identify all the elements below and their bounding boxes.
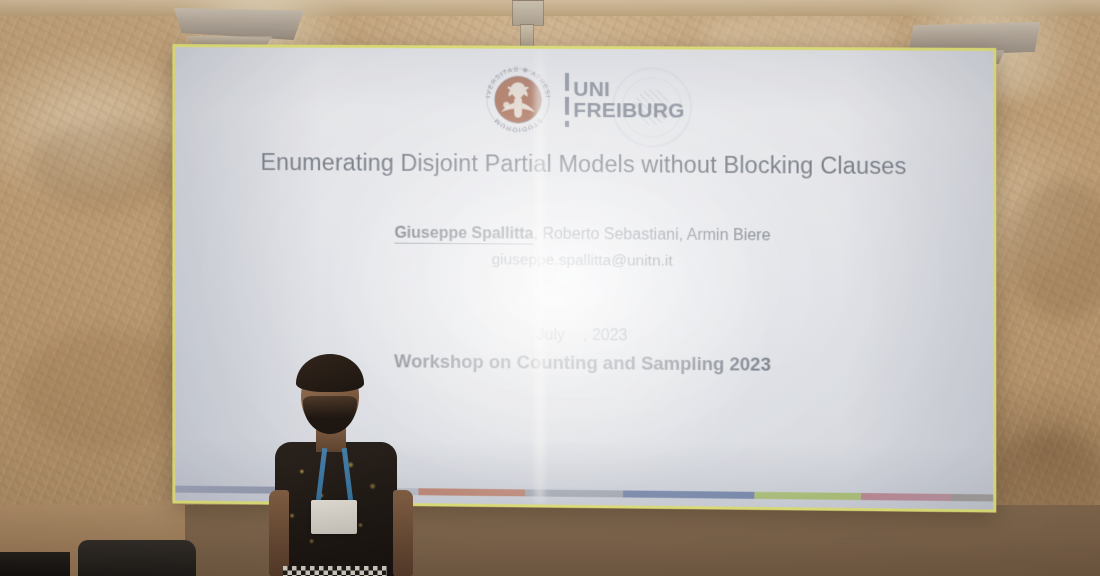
unitn-logo-icon: UNIVERSITAS ✻ ATHESINA STUDIORUM: [480, 60, 558, 138]
stripe-seg: [525, 489, 623, 497]
presenter-standing: [253, 352, 431, 576]
author-email: giuseppe.spallitta@unitn.it: [175, 249, 993, 273]
wall-outlet: [512, 0, 544, 26]
freiburg-bar-icon: [565, 73, 569, 127]
presenter-badge: [311, 500, 357, 534]
presenter-hair: [296, 354, 364, 392]
presenter-trousers: [283, 566, 387, 576]
chair-foreground: [78, 540, 196, 576]
stripe-seg: [419, 488, 525, 496]
date-month: July: [537, 327, 565, 344]
date-year: , 2023: [583, 327, 628, 344]
stripe-seg: [861, 493, 952, 501]
wall-blotch: [30, 120, 180, 210]
wall-outlet-conduit: [520, 24, 534, 48]
presenter-arm-right: [393, 490, 413, 576]
freiburg-seal-icon: [612, 67, 692, 148]
conference-photo-scene: UNIVERSITAS ✻ ATHESINA STUDIORUM: [0, 0, 1100, 576]
stripe-seg: [754, 492, 861, 500]
presenting-author: Giuseppe Spallitta: [394, 225, 533, 245]
stripe-seg: [952, 494, 993, 501]
wall-blotch: [20, 330, 190, 450]
stripe-seg: [623, 490, 754, 498]
presenter-beard: [303, 396, 357, 434]
chair-foreground-secondary: [0, 552, 70, 576]
presenter-arm-left: [269, 490, 289, 576]
slide-date: July, 2023: [175, 324, 993, 349]
slide-authors: Giuseppe Spallitta, Roberto Sebastiani, …: [175, 223, 993, 247]
coauthors: , Roberto Sebastiani, Armin Biere: [534, 226, 771, 245]
slide-title: Enumerating Disjoint Partial Models with…: [175, 149, 993, 181]
slide-logos: UNIVERSITAS ✻ ATHESINA STUDIORUM: [175, 59, 993, 141]
